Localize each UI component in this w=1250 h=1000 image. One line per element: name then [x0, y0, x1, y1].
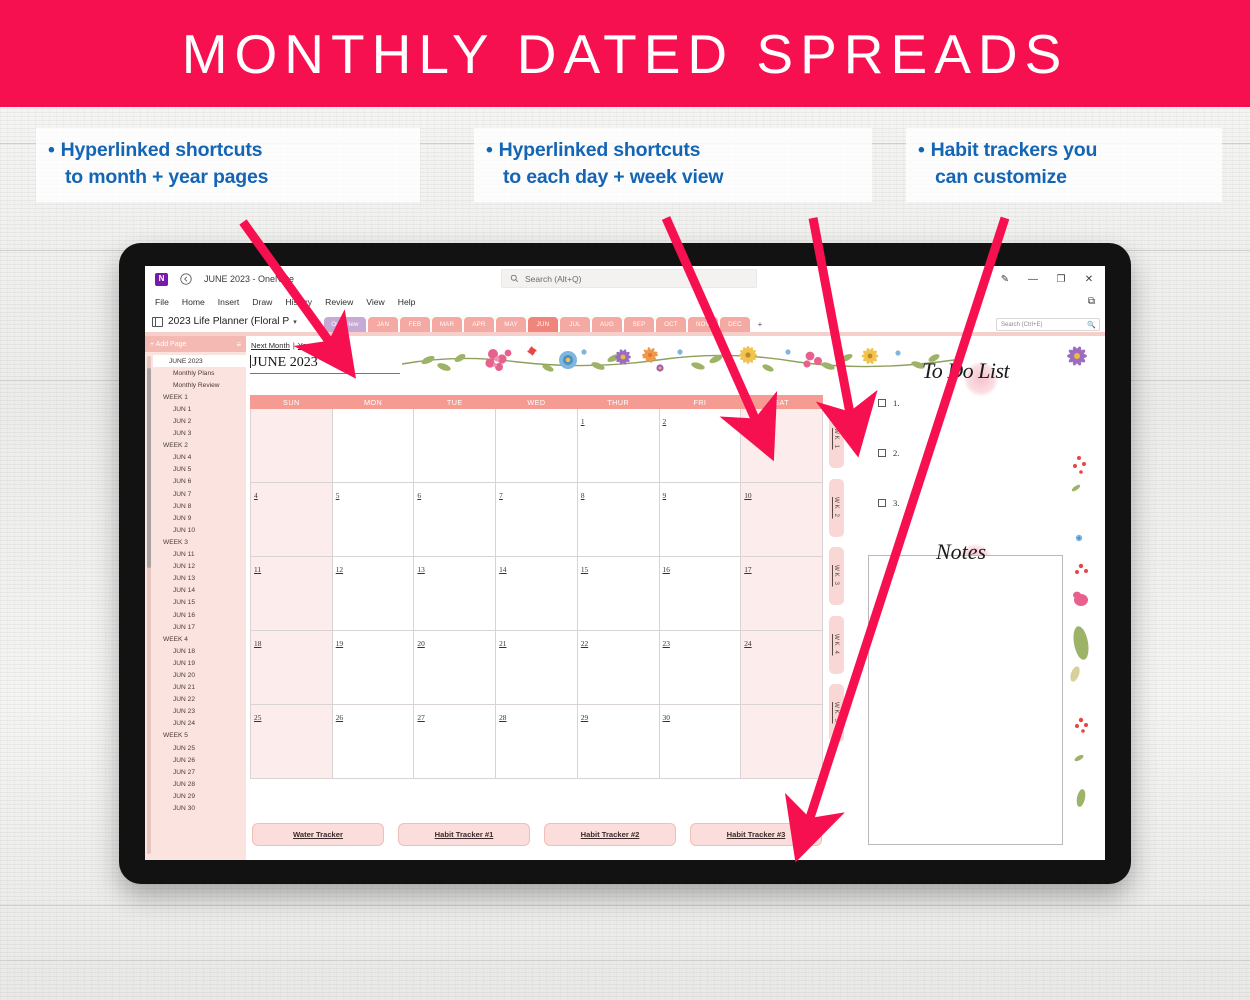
- sidebar-page-item[interactable]: WEEK 2: [145, 440, 246, 452]
- sidebar-page-label: JUN 15: [173, 599, 195, 606]
- sidebar-page-item[interactable]: JUN 20: [145, 669, 246, 681]
- sidebar-page-item[interactable]: JUN 6: [145, 476, 246, 488]
- calendar-day-link[interactable]: 2: [663, 417, 667, 426]
- onenote-icon: N: [155, 273, 168, 286]
- section-search-box[interactable]: Search (Ctrl+E) 🔍: [996, 318, 1100, 331]
- sidebar-page-item[interactable]: JUN 7: [145, 488, 246, 500]
- calendar-week-row: 45678910: [251, 483, 823, 557]
- calendar-day-link[interactable]: 8: [581, 491, 585, 500]
- calendar-day-cell[interactable]: 25: [251, 705, 333, 779]
- page-title: MONTHLY DATED SPREADS: [182, 22, 1069, 86]
- calendar-week-row: 252627282930: [251, 705, 823, 779]
- calendar-day-link[interactable]: 30: [663, 713, 670, 722]
- calendar-day-link[interactable]: 13: [417, 565, 424, 574]
- year-view-link[interactable]: Year View: [298, 341, 332, 350]
- calendar-day-link[interactable]: 15: [581, 565, 588, 574]
- section-tab-jun[interactable]: JUN: [528, 317, 558, 332]
- sidebar-page-item[interactable]: JUN 22: [145, 694, 246, 706]
- sidebar-page-label: JUN 20: [173, 672, 195, 679]
- sidebar-page-item[interactable]: JUNE 2023: [153, 355, 246, 367]
- maximize-button[interactable]: ❐: [1047, 266, 1075, 292]
- sidebar-page-item[interactable]: JUN 28: [145, 778, 246, 790]
- calendar-day-cell[interactable]: 17: [741, 557, 823, 631]
- add-page-button[interactable]: + Add Page ≡: [145, 336, 246, 352]
- sidebar-page-item[interactable]: Monthly Review: [145, 379, 246, 391]
- calendar-day-cell[interactable]: 8: [577, 483, 659, 557]
- sidebar-page-item[interactable]: JUN 10: [145, 524, 246, 536]
- sidebar-page-item[interactable]: JUN 8: [145, 500, 246, 512]
- page-list[interactable]: JUNE 2023Monthly PlansMonthly ReviewWEEK…: [145, 352, 246, 860]
- calendar-day-link[interactable]: 22: [581, 639, 588, 648]
- notes-panel-icon[interactable]: ⧉: [1088, 296, 1095, 307]
- calendar-day-cell[interactable]: 3: [741, 409, 823, 483]
- plus-icon: +: [150, 341, 154, 348]
- calendar-day-link[interactable]: 16: [663, 565, 670, 574]
- sidebar-page-item[interactable]: JUN 17: [145, 621, 246, 633]
- search-icon: [510, 274, 519, 283]
- calendar-day-cell[interactable]: 9: [659, 483, 741, 557]
- calendar-day-link[interactable]: 19: [336, 639, 343, 648]
- calendar-day-link[interactable]: 29: [581, 713, 588, 722]
- calendar-day-cell[interactable]: 7: [496, 483, 578, 557]
- sidebar-page-item[interactable]: JUN 9: [145, 512, 246, 524]
- calendar-weekday-header: SAT: [741, 396, 823, 409]
- minimize-button[interactable]: —: [1019, 266, 1047, 292]
- todo-item-2[interactable]: 2.: [878, 448, 899, 458]
- calendar-day-link[interactable]: 25: [254, 713, 261, 722]
- close-button[interactable]: ✕: [1075, 266, 1103, 292]
- calendar-day-link[interactable]: 28: [499, 713, 506, 722]
- calendar-day-cell[interactable]: 27: [414, 705, 496, 779]
- tracker-button-label: Habit Tracker #1: [435, 830, 494, 839]
- calendar-day-cell[interactable]: 23: [659, 631, 741, 705]
- tracker-button[interactable]: Habit Tracker #3: [690, 823, 822, 846]
- sidebar-page-item[interactable]: JUN 2: [145, 415, 246, 427]
- todo-item-label: 3.: [893, 498, 899, 508]
- global-search-placeholder: Search (Alt+Q): [525, 274, 581, 284]
- calendar-day-link[interactable]: 24: [744, 639, 751, 648]
- calendar-day-cell[interactable]: 24: [741, 631, 823, 705]
- calendar-day-cell[interactable]: 18: [251, 631, 333, 705]
- sidebar-page-item[interactable]: JUN 25: [145, 742, 246, 754]
- calendar-weekday-header: MON: [332, 396, 414, 409]
- sidebar-page-label: JUN 17: [173, 624, 195, 631]
- sidebar-page-label: JUN 10: [173, 527, 195, 534]
- sidebar-page-label: JUN 7: [173, 491, 191, 498]
- callout-line1: Hyperlinked shortcuts: [61, 139, 263, 161]
- sidebar-page-item[interactable]: JUN 19: [145, 657, 246, 669]
- section-tab-aug[interactable]: AUG: [592, 317, 622, 332]
- section-tab-nov[interactable]: NOV: [688, 317, 718, 332]
- sidebar-page-label: JUNE 2023: [169, 358, 203, 365]
- add-section-button[interactable]: +: [752, 317, 768, 332]
- calendar-weekday-header: FRI: [659, 396, 741, 409]
- week-tab-label: WK 1: [833, 428, 840, 450]
- calendar-week-row: 18192021222324: [251, 631, 823, 705]
- week-tab-label: WK 2: [833, 497, 840, 519]
- calendar-day-cell[interactable]: [741, 705, 823, 779]
- sidebar-page-label: JUN 23: [173, 708, 195, 715]
- sidebar-page-item[interactable]: JUN 11: [145, 549, 246, 561]
- calendar-header-row: SUNMONTUEWEDTHURFRISAT: [251, 396, 823, 409]
- sidebar-page-label: JUN 18: [173, 648, 195, 655]
- sidebar-page-item[interactable]: WEEK 3: [145, 536, 246, 548]
- todo-heading: To Do List: [922, 358, 1009, 384]
- sidebar-page-label: JUN 3: [173, 430, 191, 437]
- sidebar-page-item[interactable]: JUN 13: [145, 573, 246, 585]
- calendar-day-cell[interactable]: 16: [659, 557, 741, 631]
- calendar-week-row: 123: [251, 409, 823, 483]
- tracker-button-label: Water Tracker: [293, 830, 343, 839]
- sidebar-page-item[interactable]: JUN 30: [145, 802, 246, 814]
- sidebar-page-item[interactable]: JUN 27: [145, 766, 246, 778]
- calendar-day-cell[interactable]: [414, 409, 496, 483]
- sidebar-page-item[interactable]: JUN 15: [145, 597, 246, 609]
- page-sidebar: + Add Page ≡ JUNE 2023Monthly PlansMonth…: [145, 336, 246, 860]
- sidebar-page-item[interactable]: WEEK 4: [145, 633, 246, 645]
- week-tab[interactable]: WK 4: [829, 616, 844, 674]
- floral-garland-icon: [398, 338, 958, 378]
- section-tab-jan[interactable]: JAN: [368, 317, 398, 332]
- sidebar-page-item[interactable]: JUN 5: [145, 464, 246, 476]
- calendar-weekday-header: WED: [496, 396, 578, 409]
- sidebar-page-label: JUN 26: [173, 757, 195, 764]
- callout-day-week-shortcuts: •Hyperlinked shortcuts to each day + wee…: [474, 128, 872, 202]
- sidebar-page-label: Monthly Review: [173, 382, 220, 389]
- calendar-day-link[interactable]: 21: [499, 639, 506, 648]
- calendar-day-cell[interactable]: 30: [659, 705, 741, 779]
- add-page-label: Add Page: [156, 341, 187, 348]
- calendar-weekday-header: THUR: [577, 396, 659, 409]
- sidebar-page-item[interactable]: JUN 18: [145, 645, 246, 657]
- week-tab-label: WK 5: [833, 702, 840, 724]
- week-tab-label: WK 3: [833, 565, 840, 587]
- page-canvas: Next Month|Year View JUNE 2023 SUNMONTUE…: [246, 336, 1105, 860]
- tracker-button[interactable]: Habit Tracker #1: [398, 823, 530, 846]
- calendar-day-cell[interactable]: 15: [577, 557, 659, 631]
- todo-item-1[interactable]: 1.: [878, 398, 899, 408]
- calendar-day-link[interactable]: 9: [663, 491, 667, 500]
- sidebar-page-label: JUN 27: [173, 769, 195, 776]
- sidebar-page-label: JUN 6: [173, 478, 191, 485]
- calendar-day-cell[interactable]: 29: [577, 705, 659, 779]
- week-tab[interactable]: WK 3: [829, 547, 844, 605]
- window-titlebar: N JUNE 2023 - OneNote Search (Alt+Q) ✎ —…: [145, 266, 1105, 292]
- laptop-frame: N JUNE 2023 - OneNote Search (Alt+Q) ✎ —…: [119, 243, 1131, 884]
- calendar-day-link[interactable]: 23: [663, 639, 670, 648]
- notebook-icon: [152, 317, 163, 327]
- calendar-week-row: 11121314151617: [251, 557, 823, 631]
- sidebar-page-label: JUN 16: [173, 612, 195, 619]
- tracker-button[interactable]: Water Tracker: [252, 823, 384, 846]
- calendar-day-cell[interactable]: 2: [659, 409, 741, 483]
- calendar-day-cell[interactable]: 20: [414, 631, 496, 705]
- sidebar-page-label: WEEK 2: [163, 442, 188, 449]
- week-tab[interactable]: WK 1: [829, 410, 844, 468]
- sidebar-page-label: JUN 25: [173, 745, 195, 752]
- week-tab[interactable]: WK 5: [829, 684, 844, 742]
- month-title-field[interactable]: JUNE 2023: [250, 353, 400, 374]
- ribbon-tab-history[interactable]: History: [285, 297, 312, 307]
- calendar-day-link[interactable]: 26: [336, 713, 343, 722]
- laptop-screen: N JUNE 2023 - OneNote Search (Alt+Q) ✎ —…: [145, 266, 1105, 860]
- tracker-button[interactable]: Habit Tracker #2: [544, 823, 676, 846]
- sidebar-page-label: JUN 2: [173, 418, 191, 425]
- calendar-day-cell[interactable]: 19: [332, 631, 414, 705]
- calendar-day-link[interactable]: 5: [336, 491, 340, 500]
- monthly-calendar[interactable]: SUNMONTUEWEDTHURFRISAT 12345678910111213…: [250, 395, 823, 779]
- callout-line2: to each day + week view: [503, 166, 723, 188]
- sidebar-page-label: JUN 14: [173, 587, 195, 594]
- plank-line: [0, 905, 1250, 906]
- sidebar-page-item[interactable]: WEEK 1: [145, 391, 246, 403]
- section-tab-sep[interactable]: SEP: [624, 317, 654, 332]
- work-area: + Add Page ≡ JUNE 2023Monthly PlansMonth…: [145, 336, 1105, 860]
- ribbon-tabs: File Home Insert Draw History Review Vie…: [145, 292, 1105, 311]
- sidebar-page-label: JUN 5: [173, 466, 191, 473]
- tracker-button-label: Habit Tracker #2: [581, 830, 640, 839]
- calendar-day-link[interactable]: 1: [581, 417, 585, 426]
- calendar-day-cell[interactable]: 6: [414, 483, 496, 557]
- sidebar-page-item[interactable]: JUN 4: [145, 452, 246, 464]
- sidebar-page-label: JUN 12: [173, 563, 195, 570]
- calendar-day-cell[interactable]: 13: [414, 557, 496, 631]
- checkbox-icon[interactable]: [878, 399, 886, 407]
- plank-line: [0, 960, 1250, 961]
- calendar-day-link[interactable]: 4: [254, 491, 258, 500]
- page-banner: MONTHLY DATED SPREADS: [0, 0, 1250, 107]
- callout-line2: can customize: [935, 166, 1067, 188]
- calendar-day-link[interactable]: 6: [417, 491, 421, 500]
- sidebar-page-item[interactable]: WEEK 5: [145, 730, 246, 742]
- page-nav-links: Next Month|Year View: [251, 341, 332, 350]
- sidebar-page-label: WEEK 4: [163, 636, 188, 643]
- sidebar-page-item[interactable]: JUN 1: [145, 403, 246, 415]
- calendar-day-link[interactable]: 18: [254, 639, 261, 648]
- week-tabs: WK 1WK 2WK 3WK 4WK 5: [829, 410, 844, 753]
- sidebar-page-item[interactable]: JUN 14: [145, 585, 246, 597]
- chevron-down-icon[interactable]: ▾: [293, 318, 297, 326]
- section-search-placeholder: Search (Ctrl+E): [1001, 322, 1043, 328]
- todo-item-label: 1.: [893, 398, 899, 408]
- ribbon-tab-draw[interactable]: Draw: [252, 297, 272, 307]
- section-tab-mar[interactable]: MAR: [432, 317, 462, 332]
- ribbon-tab-file[interactable]: File: [155, 297, 169, 307]
- callout-line1: Hyperlinked shortcuts: [499, 139, 701, 161]
- search-icon: 🔍: [1087, 321, 1096, 329]
- sidebar-page-label: WEEK 1: [163, 394, 188, 401]
- sidebar-page-item[interactable]: Monthly Plans: [145, 367, 246, 379]
- calendar-day-link[interactable]: 27: [417, 713, 424, 722]
- sidebar-page-label: JUN 21: [173, 684, 195, 691]
- notebook-row: 2023 Life Planner (Floral P ▾ Overview J…: [145, 311, 1105, 332]
- tracker-buttons: Water TrackerHabit Tracker #1Habit Track…: [252, 823, 822, 846]
- sort-icon[interactable]: ≡: [236, 340, 241, 349]
- back-icon[interactable]: [179, 272, 193, 286]
- callout-habit-trackers: •Habit trackers you can customize: [906, 128, 1222, 202]
- todo-item-label: 2.: [893, 448, 899, 458]
- sidebar-page-label: JUN 4: [173, 454, 191, 461]
- calendar-day-link[interactable]: 3: [744, 417, 748, 426]
- ribbon-tab-insert[interactable]: Insert: [218, 297, 240, 307]
- sidebar-page-label: JUN 8: [173, 503, 191, 510]
- section-tab-oct[interactable]: OCT: [656, 317, 686, 332]
- nav-separator: |: [293, 341, 295, 350]
- bullet-icon: •: [48, 139, 55, 161]
- section-tab-may[interactable]: MAY: [496, 317, 526, 332]
- callout-line1: Habit trackers you: [931, 139, 1098, 161]
- calendar-day-cell[interactable]: 4: [251, 483, 333, 557]
- sidebar-page-label: JUN 19: [173, 660, 195, 667]
- ribbon-tab-home[interactable]: Home: [182, 297, 205, 307]
- calendar-day-cell[interactable]: 22: [577, 631, 659, 705]
- calendar-day-cell[interactable]: 10: [741, 483, 823, 557]
- calendar-day-cell[interactable]: 26: [332, 705, 414, 779]
- callout-month-year-shortcuts: •Hyperlinked shortcuts to month + year p…: [36, 128, 420, 202]
- notes-box[interactable]: [868, 555, 1063, 845]
- calendar-day-link[interactable]: 14: [499, 565, 506, 574]
- calendar-day-cell[interactable]: 5: [332, 483, 414, 557]
- sidebar-page-item[interactable]: JUN 12: [145, 561, 246, 573]
- sidebar-page-item[interactable]: JUN 23: [145, 706, 246, 718]
- checkbox-icon[interactable]: [878, 499, 886, 507]
- bullet-icon: •: [918, 139, 925, 161]
- sidebar-page-label: JUN 28: [173, 781, 195, 788]
- window-controls: ✎ — ❐ ✕: [991, 266, 1103, 292]
- week-tab[interactable]: WK 2: [829, 479, 844, 537]
- calendar-day-link[interactable]: 7: [499, 491, 503, 500]
- sidebar-page-label: JUN 13: [173, 575, 195, 582]
- calendar-day-cell[interactable]: 12: [332, 557, 414, 631]
- calendar-day-link[interactable]: 17: [744, 565, 751, 574]
- calendar-day-cell[interactable]: 11: [251, 557, 333, 631]
- section-tab-overview[interactable]: Overview: [324, 317, 366, 332]
- window-title: JUNE 2023 - OneNote: [204, 274, 294, 284]
- sidebar-page-label: JUN 9: [173, 515, 191, 522]
- sidebar-page-item[interactable]: JUN 26: [145, 754, 246, 766]
- sidebar-page-label: JUN 30: [173, 805, 195, 812]
- calendar-weekday-header: SUN: [251, 396, 333, 409]
- sidebar-page-item[interactable]: JUN 29: [145, 790, 246, 802]
- calendar-day-cell[interactable]: 14: [496, 557, 578, 631]
- sidebar-page-label: JUN 11: [173, 551, 195, 558]
- calendar-day-cell[interactable]: [332, 409, 414, 483]
- calendar-day-link[interactable]: 11: [254, 565, 261, 574]
- sidebar-page-item[interactable]: JUN 3: [145, 428, 246, 440]
- floral-side-accent-icon: [1061, 338, 1101, 858]
- calendar-body: 1234567891011121314151617181920212223242…: [251, 409, 823, 779]
- sidebar-page-label: JUN 22: [173, 696, 195, 703]
- calendar-day-cell[interactable]: 1: [577, 409, 659, 483]
- calendar-weekday-header: TUE: [414, 396, 496, 409]
- checkbox-icon[interactable]: [878, 449, 886, 457]
- page-list-scrollbar[interactable]: [147, 356, 151, 854]
- calendar-day-cell[interactable]: [251, 409, 333, 483]
- ribbon-tab-view[interactable]: View: [366, 297, 384, 307]
- notes-heading: Notes: [936, 539, 986, 565]
- next-month-link[interactable]: Next Month: [251, 341, 290, 350]
- sidebar-page-label: WEEK 3: [163, 539, 188, 546]
- bullet-icon: •: [486, 139, 493, 161]
- sidebar-page-label: JUN 24: [173, 720, 195, 727]
- text-cursor: [250, 355, 251, 368]
- calendar-day-cell[interactable]: [496, 409, 578, 483]
- sidebar-page-item[interactable]: JUN 16: [145, 609, 246, 621]
- section-tab-jul[interactable]: JUL: [560, 317, 590, 332]
- tracker-button-label: Habit Tracker #3: [727, 830, 786, 839]
- ribbon-tab-help[interactable]: Help: [398, 297, 416, 307]
- pen-icon[interactable]: ✎: [991, 266, 1019, 292]
- week-tab-label: WK 4: [833, 634, 840, 656]
- sidebar-page-label: WEEK 5: [163, 732, 188, 739]
- calendar-day-link[interactable]: 10: [744, 491, 751, 500]
- section-tab-apr[interactable]: APR: [464, 317, 494, 332]
- section-tab-feb[interactable]: FEB: [400, 317, 430, 332]
- sidebar-page-label: JUN 29: [173, 793, 195, 800]
- sidebar-page-item[interactable]: JUN 24: [145, 718, 246, 730]
- calendar-day-link[interactable]: 12: [336, 565, 343, 574]
- sidebar-page-label: Monthly Plans: [173, 370, 214, 377]
- calendar-day-link[interactable]: 20: [417, 639, 424, 648]
- callout-line2: to month + year pages: [65, 166, 268, 188]
- ribbon-tab-review[interactable]: Review: [325, 297, 353, 307]
- todo-item-3[interactable]: 3.: [878, 498, 899, 508]
- global-search-box[interactable]: Search (Alt+Q): [501, 269, 757, 288]
- section-tabstrip: Overview JAN FEB MAR APR MAY JUN JUL AUG…: [320, 311, 1105, 332]
- sidebar-page-item[interactable]: JUN 21: [145, 682, 246, 694]
- notebook-title[interactable]: 2023 Life Planner (Floral P: [168, 316, 289, 327]
- section-tab-dec[interactable]: DEC: [720, 317, 750, 332]
- calendar-day-cell[interactable]: 21: [496, 631, 578, 705]
- sidebar-page-label: JUN 1: [173, 406, 191, 413]
- calendar-day-cell[interactable]: 28: [496, 705, 578, 779]
- month-title: JUNE 2023: [252, 355, 318, 370]
